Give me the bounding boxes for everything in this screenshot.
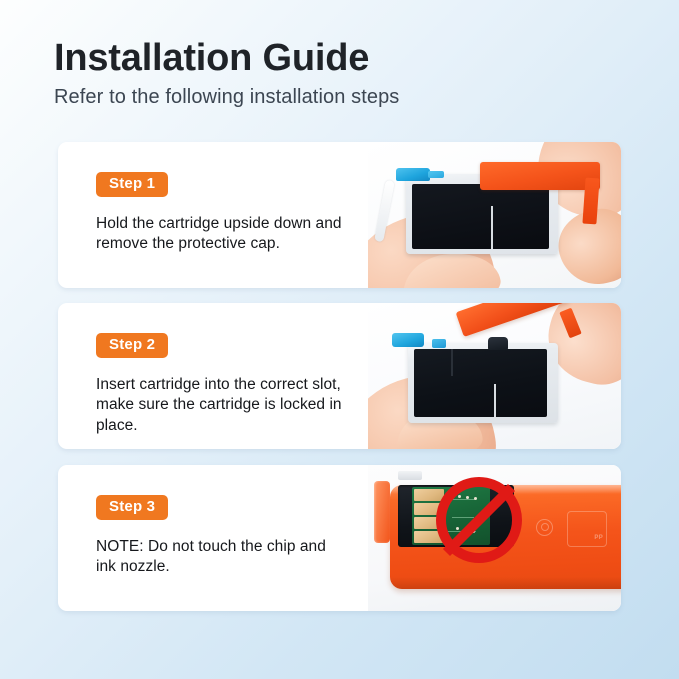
step-card-3: Step 3 NOTE: Do not touch the chip and i…	[58, 465, 621, 611]
step-3-photo: PP	[368, 465, 621, 611]
step-3-badge: Step 3	[96, 495, 168, 520]
page-title: Installation Guide	[54, 38, 614, 79]
orange-protective-cap	[480, 162, 600, 190]
blue-clip	[396, 168, 430, 181]
ink-divider-upper	[451, 349, 453, 376]
step-2-photo	[368, 303, 621, 449]
step-3-description: NOTE: Do not touch the chip and ink nozz…	[96, 537, 350, 578]
page-header: Installation Guide Refer to the followin…	[54, 38, 614, 109]
step-card-1: Step 1 Hold the cartridge upside down an…	[58, 142, 621, 288]
prohibition-slash-icon	[436, 477, 522, 563]
emboss-label: PP	[594, 535, 603, 541]
step-2-description: Insert cartridge into the correct slot, …	[96, 375, 350, 436]
cartridge-side-rail	[374, 481, 390, 543]
step-card-2: Step 2 Insert cartridge into the correct…	[58, 303, 621, 449]
step-3-text-panel: Step 3 NOTE: Do not touch the chip and i…	[58, 465, 368, 611]
blue-clip-tip	[432, 339, 446, 348]
ink-reservoir	[412, 184, 549, 249]
cartridge-notch	[398, 471, 422, 480]
blue-clip	[392, 333, 424, 347]
installation-guide-page: Installation Guide Refer to the followin…	[0, 0, 679, 679]
ink-divider	[491, 206, 493, 249]
step-1-description: Hold the cartridge upside down and remov…	[96, 214, 350, 255]
cartridge-knob	[488, 337, 508, 350]
step-1-photo	[368, 142, 621, 288]
step-1-text-panel: Step 1 Hold the cartridge upside down an…	[58, 142, 368, 288]
step-2-text-panel: Step 2 Insert cartridge into the correct…	[58, 303, 368, 449]
recycle-badge-emboss-icon	[567, 511, 607, 547]
ink-divider	[494, 384, 496, 417]
step-1-badge: Step 1	[96, 172, 168, 197]
page-subtitle: Refer to the following installation step…	[54, 86, 614, 109]
recycle-inner-circle-emboss-icon	[541, 523, 549, 531]
ink-cartridge	[408, 343, 558, 423]
body-bottom-shadow	[390, 577, 621, 589]
blue-clip-tip	[428, 171, 444, 178]
step-2-badge: Step 2	[96, 333, 168, 358]
ink-reservoir	[414, 349, 547, 417]
